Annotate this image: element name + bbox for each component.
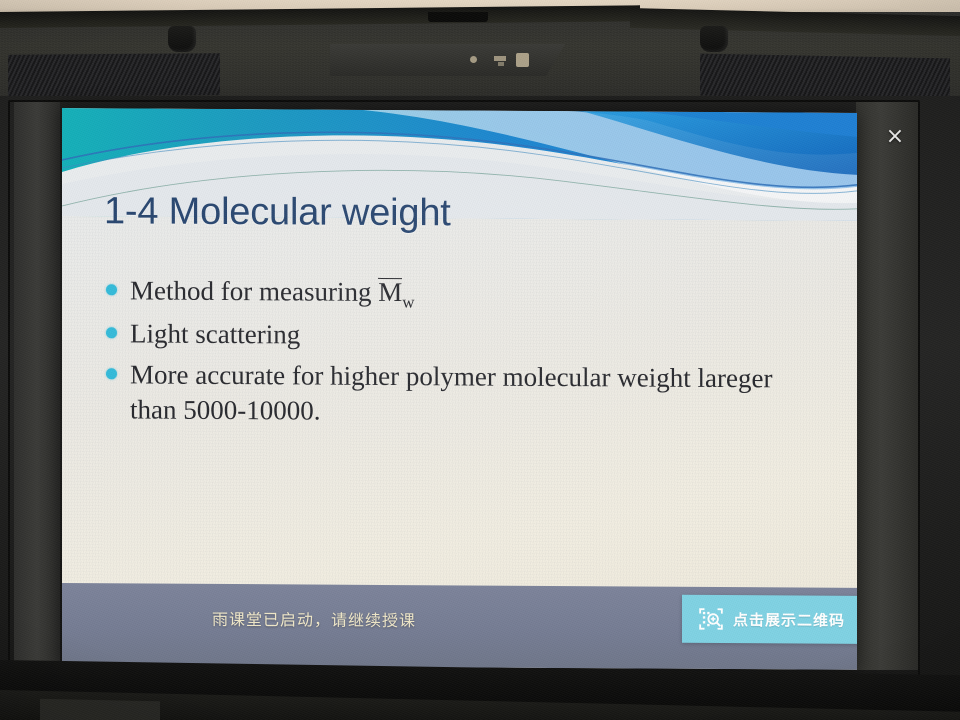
- camera-notch: [428, 12, 488, 22]
- housing-clip-left: [168, 26, 196, 52]
- housing-clip-right: [700, 26, 728, 52]
- desk-edge: [40, 699, 160, 720]
- close-icon[interactable]: ×: [880, 122, 910, 152]
- bullet-dot-icon: [106, 328, 117, 339]
- bullet-text-prefix: Method for measuring: [130, 275, 378, 307]
- speaker-grille-right: [700, 54, 950, 101]
- speaker-grille-left: [8, 53, 220, 96]
- slide-title: 1-4 Molecular weight: [104, 190, 451, 235]
- indicator-light-power: [470, 56, 477, 63]
- bullet-dot-icon: [106, 368, 117, 379]
- slide-bullet-list: Method for measuring Mw Light scattering…: [106, 273, 816, 436]
- photo-scene: 1-4 Molecular weight Method for measurin…: [0, 0, 960, 720]
- indicator-light-status: [494, 56, 506, 61]
- indicator-light-block: [516, 53, 529, 67]
- list-item: Light scattering: [106, 317, 816, 356]
- qr-scan-icon: [698, 606, 724, 632]
- bullet-text: Method for measuring Mw: [130, 273, 816, 316]
- bullet-dot-icon: [106, 284, 117, 295]
- subscript-symbol: w: [402, 292, 414, 311]
- show-qr-code-button[interactable]: 点击展示二维码: [682, 595, 857, 644]
- rain-classroom-status-bar: 雨课堂已启动，请继续授课: [62, 583, 857, 670]
- bullet-text: More accurate for higher polymer molecul…: [130, 357, 816, 431]
- list-item: More accurate for higher polymer molecul…: [106, 357, 816, 432]
- presentation-screen: 1-4 Molecular weight Method for measurin…: [62, 108, 857, 670]
- show-qr-code-label: 点击展示二维码: [733, 609, 845, 631]
- overline-symbol: M: [378, 278, 402, 306]
- list-item: Method for measuring Mw: [106, 273, 816, 316]
- indicator-panel: [330, 44, 565, 76]
- status-message: 雨课堂已启动，请继续授课: [212, 606, 416, 631]
- bullet-text: Light scattering: [130, 317, 816, 356]
- indicator-light-aux: [498, 62, 504, 66]
